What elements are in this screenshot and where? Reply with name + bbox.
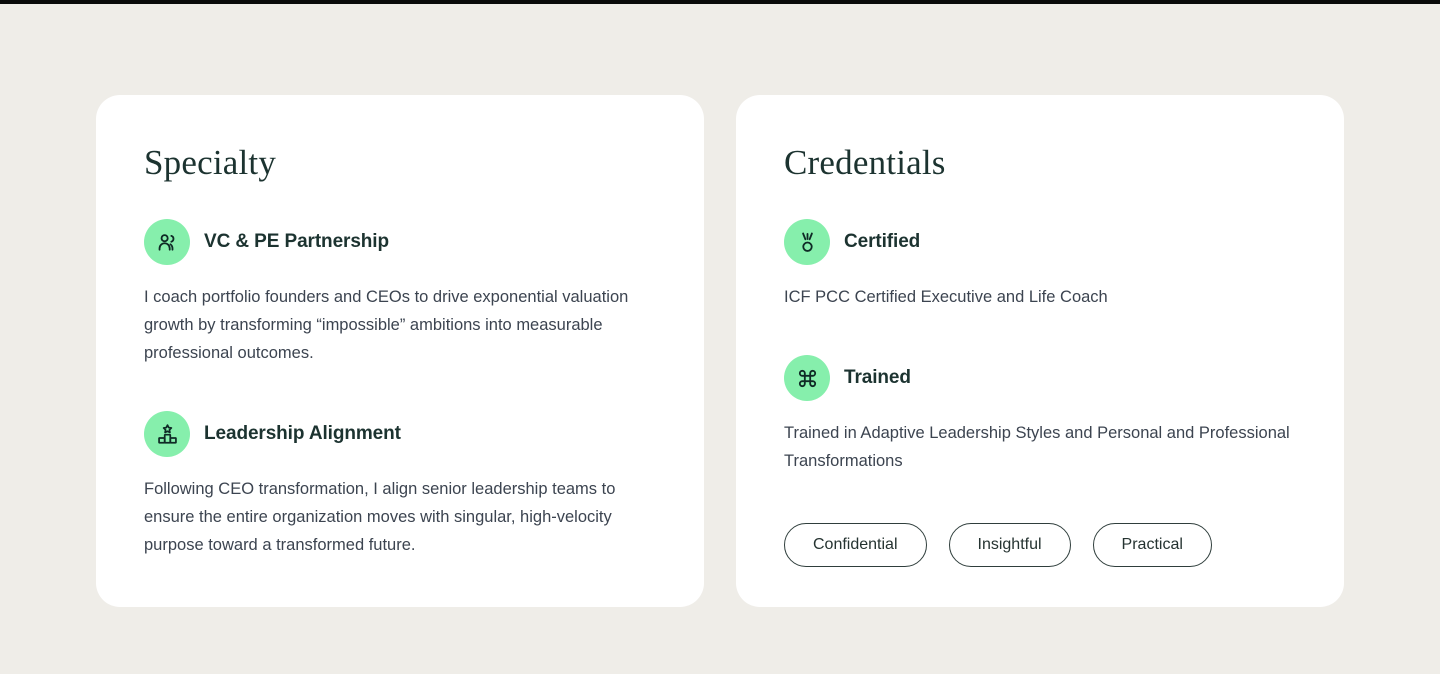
entry-description: I coach portfolio founders and CEOs to d… [144, 283, 644, 367]
cards-container: Specialty VC & PE Partnership I coach po… [96, 95, 1344, 607]
tag-confidential[interactable]: Confidential [784, 523, 927, 567]
entry-header: VC & PE Partnership [144, 219, 656, 265]
entry-description: Following CEO transformation, I align se… [144, 475, 656, 559]
credentials-card: Credentials Certified ICF PCC Certified … [736, 95, 1344, 607]
entry-header: Leadership Alignment [144, 411, 656, 457]
entry-description: ICF PCC Certified Executive and Life Coa… [784, 283, 1296, 311]
tag-insightful[interactable]: Insightful [949, 523, 1071, 567]
entry-description: Trained in Adaptive Leadership Styles an… [784, 419, 1296, 475]
specialty-entry-vc-pe-partnership: VC & PE Partnership I coach portfolio fo… [144, 219, 656, 367]
users-icon [144, 219, 190, 265]
entry-header: Certified [784, 219, 1296, 265]
specialty-entry-leadership-alignment: Leadership Alignment Following CEO trans… [144, 411, 656, 559]
top-accent-bar [0, 0, 1440, 4]
entry-title: Trained [844, 367, 911, 389]
tag-practical[interactable]: Practical [1093, 523, 1212, 567]
credentials-entry-certified: Certified ICF PCC Certified Executive an… [784, 219, 1296, 311]
credentials-card-title: Credentials [784, 143, 1296, 183]
entry-title: VC & PE Partnership [204, 231, 389, 253]
entry-header: Trained [784, 355, 1296, 401]
medal-icon [784, 219, 830, 265]
podium-star-icon [144, 411, 190, 457]
credentials-entry-trained: Trained Trained in Adaptive Leadership S… [784, 355, 1296, 475]
entry-title: Leadership Alignment [204, 423, 401, 445]
entry-title: Certified [844, 231, 920, 253]
command-icon [784, 355, 830, 401]
specialty-card-title: Specialty [144, 143, 656, 183]
specialty-card: Specialty VC & PE Partnership I coach po… [96, 95, 704, 607]
credentials-tag-list: Confidential Insightful Practical [784, 523, 1296, 567]
